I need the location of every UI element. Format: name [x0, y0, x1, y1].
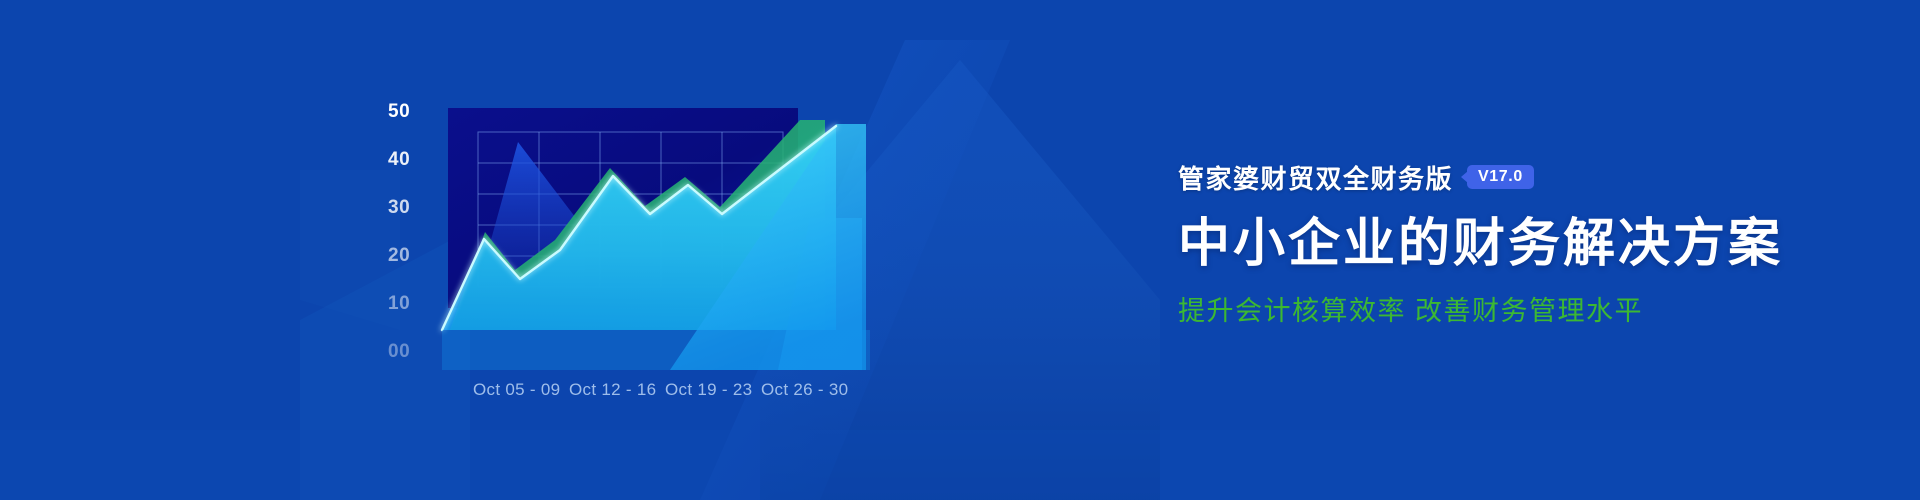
y-tick-50: 50: [388, 101, 410, 122]
y-tick-10: 10: [388, 293, 410, 314]
x-tick-2: Oct 12 - 16: [569, 380, 656, 399]
chart-illustration: 50 40 30 20 10 00 Oct 05 - 09 Oct 12 - 1…: [370, 80, 1030, 410]
badge-tail-icon: [1461, 171, 1468, 183]
x-tick-1: Oct 05 - 09: [473, 380, 560, 399]
brand-row: 管家婆财贸双全财务版 V17.0: [1178, 160, 1798, 194]
deco-strip-bottom: [0, 430, 1920, 500]
promo-banner: 50 40 30 20 10 00 Oct 05 - 09 Oct 12 - 1…: [0, 0, 1920, 500]
deco-baseline-band: [442, 330, 870, 370]
finance-area-chart: 50 40 30 20 10 00 Oct 05 - 09 Oct 12 - 1…: [370, 80, 1030, 410]
x-tick-4: Oct 26 - 30: [761, 380, 848, 399]
version-badge: V17.0: [1467, 165, 1534, 190]
y-tick-00: 00: [388, 341, 410, 362]
y-tick-30: 30: [388, 197, 410, 218]
subheadline: 提升会计核算效率 改善财务管理水平: [1178, 295, 1798, 327]
x-axis-labels: Oct 05 - 09 Oct 12 - 16 Oct 19 - 23 Oct …: [473, 380, 848, 399]
y-tick-20: 20: [388, 245, 410, 266]
y-axis-labels: 50 40 30 20 10 00: [388, 101, 410, 362]
product-name: 管家婆财贸双全财务版: [1178, 159, 1453, 196]
headline: 中小企业的财务解决方案: [1178, 216, 1798, 273]
x-tick-3: Oct 19 - 23: [665, 380, 752, 399]
y-tick-40: 40: [388, 149, 410, 170]
marketing-copy: 管家婆财贸双全财务版 V17.0 中小企业的财务解决方案 提升会计核算效率 改善…: [1178, 160, 1798, 328]
version-badge-wrapper: V17.0: [1467, 165, 1534, 190]
